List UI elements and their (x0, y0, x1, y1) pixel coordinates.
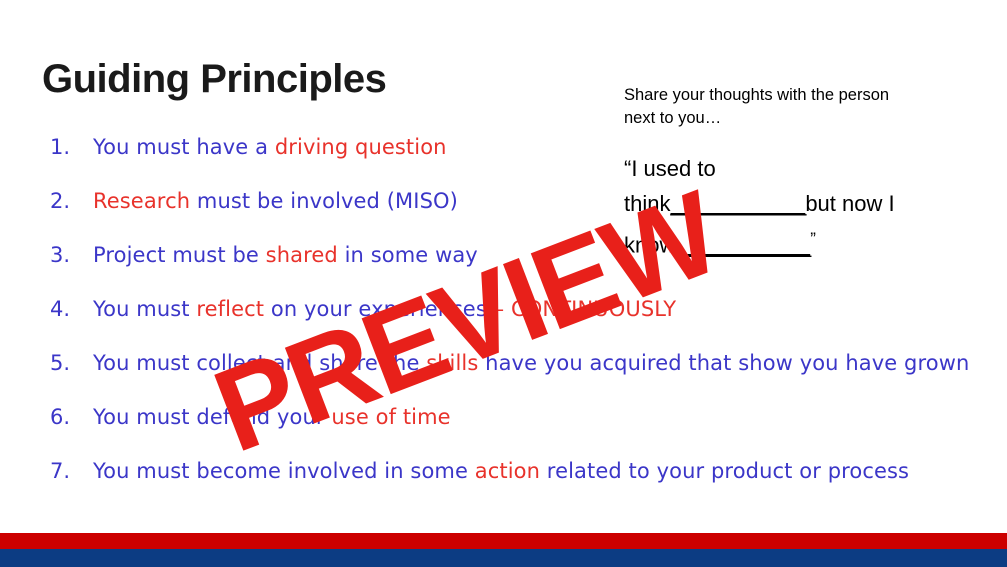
page-title: Guiding Principles (42, 58, 386, 100)
list-item-number: 7. (50, 456, 84, 486)
footer-bar-blue (0, 549, 1007, 567)
slide-canvas: Guiding Principles 1.You must have a dri… (0, 0, 1007, 567)
text-segment: You must defend your (93, 405, 331, 429)
list-item-text: You must become involved in some action … (93, 456, 909, 486)
list-item-text: Project must be shared in some way (93, 240, 478, 270)
list-item-number: 1. (50, 132, 84, 162)
text-segment: You must become involved in some (93, 459, 475, 483)
list-item-text: You must reflect on your experiences – C… (93, 294, 676, 324)
list-item-number: 4. (50, 294, 84, 324)
text-segment: have you acquired that show you have gro… (478, 351, 969, 375)
list-item: 7.You must become involved in some actio… (50, 456, 950, 510)
text-segment: skills (426, 351, 478, 375)
list-item-number: 6. (50, 402, 84, 432)
text-segment: in some way (338, 243, 478, 267)
list-item-text: You must defend your use of time (93, 402, 451, 432)
text-segment: You must (93, 297, 196, 321)
list-item-text: You must collect and share the skills ha… (93, 348, 969, 378)
blank-line-one[interactable]: ____________ (670, 191, 805, 216)
discussion-prompt-block: Share your thoughts with the person next… (624, 84, 924, 262)
quote-close-text: ” (810, 229, 816, 248)
text-segment: Project must be (93, 243, 266, 267)
list-item-number: 3. (50, 240, 84, 270)
text-segment: Research (93, 189, 190, 213)
list-item-number: 5. (50, 348, 84, 378)
text-segment: action (475, 459, 540, 483)
prompt-intro-text: Share your thoughts with the person next… (624, 84, 924, 130)
footer-bar-red (0, 533, 1007, 549)
text-segment: on your experiences (264, 297, 494, 321)
text-segment: shared (266, 243, 338, 267)
list-item: 5.You must collect and share the skills … (50, 348, 950, 402)
text-segment: driving question (275, 135, 447, 159)
list-item-text: You must have a driving question (93, 132, 447, 162)
list-item: 6.You must defend your use of time (50, 402, 950, 456)
text-segment: must be involved (MISO) (190, 189, 458, 213)
text-segment: use of time (331, 405, 450, 429)
text-segment: reflect (196, 297, 264, 321)
sentence-stem-text: “I used to think____________but now I kn… (624, 151, 920, 262)
text-segment: related to your product or process (540, 459, 909, 483)
list-item: 4.You must reflect on your experiences –… (50, 294, 950, 348)
list-item-number: 2. (50, 186, 84, 216)
list-item-text: Research must be involved (MISO) (93, 186, 458, 216)
text-segment: You must have a (93, 135, 275, 159)
blank-line-two[interactable]: ____________ (675, 232, 810, 257)
text-segment: You must collect and share the (93, 351, 426, 375)
text-segment: – CONTINUOUSLY (494, 297, 677, 321)
